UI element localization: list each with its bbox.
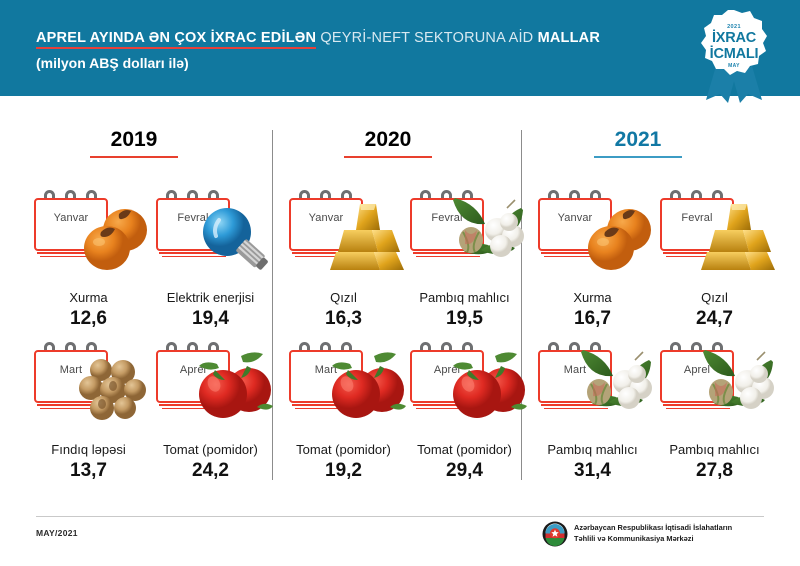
item-name: Pambıq mahlıcı	[402, 290, 527, 306]
lightbulb-icon	[197, 194, 277, 278]
item-card: Aprel Tomat (pomidor) 29,4	[402, 332, 527, 483]
goldbars-icon	[701, 194, 781, 278]
cotton-icon	[579, 346, 659, 430]
item-value: 12,6	[26, 307, 151, 331]
item-value: 19,4	[148, 307, 273, 331]
item-visual: Aprel	[148, 332, 273, 440]
item-visual: Yanvar	[281, 180, 406, 288]
year-column-header-2021: 2021	[538, 128, 738, 158]
item-name: Pambıq mahlıcı	[530, 442, 655, 458]
year-label: 2020	[288, 128, 488, 152]
item-name: Qızıl	[281, 290, 406, 306]
hazelnut-icon	[75, 346, 155, 430]
ixrac-icmali-badge: 2021 İXRAC İCMALI MAY	[690, 4, 778, 104]
item-value: 29,4	[402, 459, 527, 483]
item-card: Aprel	[652, 332, 777, 483]
item-card: Fevral	[652, 180, 777, 331]
item-value: 27,8	[652, 459, 777, 483]
item-value: 31,4	[530, 459, 655, 483]
azerbaijan-emblem-icon	[542, 521, 568, 547]
title-part-1: APREL AYINDA ƏN ÇOX İXRAC EDİLƏN	[36, 30, 316, 49]
item-name: Tomat (pomidor)	[148, 442, 273, 458]
item-value: 16,7	[530, 307, 655, 331]
tomato-icon	[451, 346, 531, 430]
persimmon-icon	[75, 194, 155, 278]
item-name: Xurma	[530, 290, 655, 306]
badge-title: İXRAC İCMALI	[690, 31, 778, 62]
item-card: Mart	[530, 332, 655, 483]
item-visual: Fevral	[148, 180, 273, 288]
item-visual: Fevral	[402, 180, 527, 288]
page-title: APREL AYINDA ƏN ÇOX İXRAC EDİLƏN QEYRİ-N…	[36, 28, 600, 48]
goldbars-icon	[330, 194, 410, 278]
item-value: 24,7	[652, 307, 777, 331]
footer-org-line-2: Təhlili və Kommunikasiya Mərkəzi	[574, 534, 732, 545]
footer-divider	[36, 516, 764, 517]
year-underline	[344, 156, 432, 158]
year-column-header-2020: 2020	[288, 128, 488, 158]
item-name: Tomat (pomidor)	[281, 442, 406, 458]
tomato-icon	[197, 346, 277, 430]
item-card: Mart Tomat (pomidor) 19,2	[281, 332, 406, 483]
item-visual: Aprel	[652, 332, 777, 440]
item-visual: Mart	[530, 332, 655, 440]
item-name: Fındıq ləpəsi	[26, 442, 151, 458]
year-label: 2021	[538, 128, 738, 152]
year-heading-row: 2019 2020 2021	[0, 128, 800, 162]
item-value: 13,7	[26, 459, 151, 483]
year-label: 2019	[34, 128, 234, 152]
page-header: APREL AYINDA ƏN ÇOX İXRAC EDİLƏN QEYRİ-N…	[0, 0, 800, 96]
footer-date: MAY/2021	[36, 528, 78, 538]
item-card: Yanvar Xurma 12,6	[26, 180, 151, 331]
cotton-icon	[701, 346, 781, 430]
badge-line-1: İXRAC	[690, 31, 778, 47]
item-card: Yanvar Xurma 16,7	[530, 180, 655, 331]
item-value: 16,3	[281, 307, 406, 331]
page-subtitle: (milyon ABŞ dolları ilə)	[36, 54, 600, 72]
tomato-icon	[330, 346, 410, 430]
items-grid: Yanvar Xurma 12,6	[0, 180, 800, 490]
badge-month: MAY	[690, 63, 778, 69]
header-title-group: APREL AYINDA ƏN ÇOX İXRAC EDİLƏN QEYRİ-N…	[36, 28, 600, 72]
title-part-3: MALLAR	[538, 30, 600, 46]
item-visual: Mart	[26, 332, 151, 440]
badge-line-2: İCMALI	[690, 47, 778, 63]
footer-org-text: Azərbaycan Respublikası İqtisadi İslahat…	[574, 523, 732, 544]
item-name: Pambıq mahlıcı	[652, 442, 777, 458]
item-value: 24,2	[148, 459, 273, 483]
year-column-header-2019: 2019	[34, 128, 234, 158]
cotton-icon	[451, 194, 531, 278]
item-value: 19,5	[402, 307, 527, 331]
item-card: Yanvar	[281, 180, 406, 331]
item-card: Mart Fındıq ləpəsi 13,7	[26, 332, 151, 483]
item-card: Fevral Elektrik enerjisi 19,	[148, 180, 273, 331]
item-visual: Aprel	[402, 332, 527, 440]
item-visual: Mart	[281, 332, 406, 440]
item-visual: Yanvar	[26, 180, 151, 288]
item-name: Xurma	[26, 290, 151, 306]
item-card: Aprel Tomat (pomidor) 24,2	[148, 332, 273, 483]
year-underline	[90, 156, 178, 158]
footer-org-line-1: Azərbaycan Respublikası İqtisadi İslahat…	[574, 523, 732, 534]
title-part-2: QEYRİ-NEFT SEKTORUNA AİD	[320, 30, 533, 46]
year-underline	[594, 156, 682, 158]
persimmon-icon	[579, 194, 659, 278]
item-name: Qızıl	[652, 290, 777, 306]
item-visual: Fevral	[652, 180, 777, 288]
footer-organization: Azərbaycan Respublikası İqtisadi İslahat…	[542, 521, 772, 551]
item-name: Elektrik enerjisi	[148, 290, 273, 306]
item-name: Tomat (pomidor)	[402, 442, 527, 458]
item-value: 19,2	[281, 459, 406, 483]
item-card: Fevral	[402, 180, 527, 331]
item-visual: Yanvar	[530, 180, 655, 288]
